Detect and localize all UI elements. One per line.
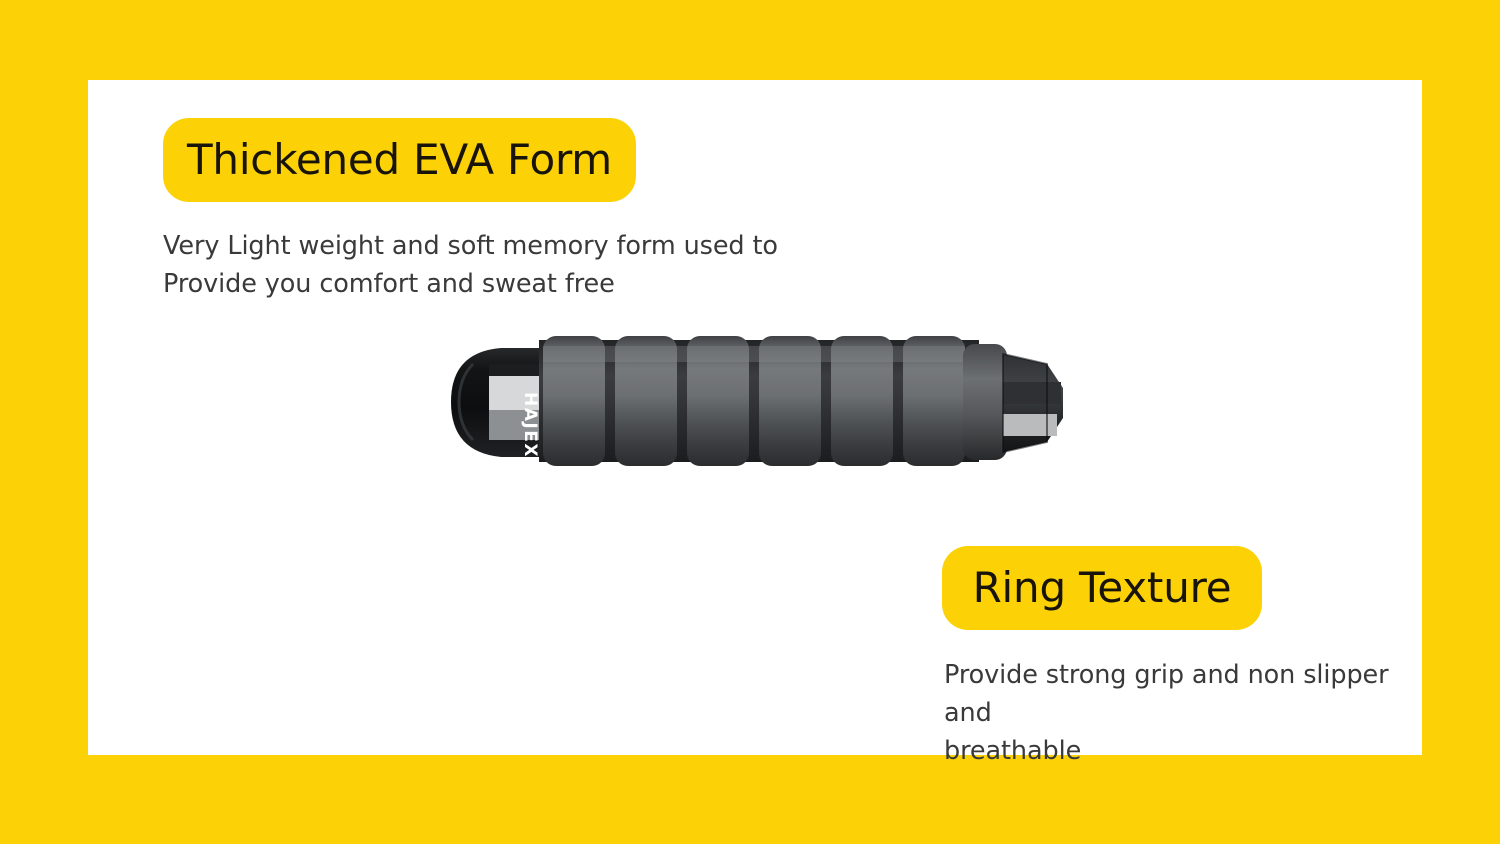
grip-right-collar xyxy=(963,344,1007,460)
description-thickened-eva-form: Very Light weight and soft memory form u… xyxy=(163,227,803,303)
grip-right-end-cap xyxy=(1003,354,1063,452)
grip-ring-segments xyxy=(539,336,979,466)
infographic-canvas: Thickened EVA Form Very Light weight and… xyxy=(0,0,1500,844)
badge-thickened-eva-form: Thickened EVA Form xyxy=(163,118,636,202)
description-ring-texture: Provide strong grip and non slipper and … xyxy=(944,656,1444,770)
content-panel: Thickened EVA Form Very Light weight and… xyxy=(88,80,1422,755)
badge-thickened-eva-form-label: Thickened EVA Form xyxy=(187,139,612,181)
badge-ring-texture: Ring Texture xyxy=(942,546,1262,630)
brand-logo-text: HAJEX xyxy=(520,392,540,458)
badge-ring-texture-label: Ring Texture xyxy=(973,567,1232,609)
product-illustration: HAJEX xyxy=(443,330,1083,475)
product-image-foam-grip: HAJEX xyxy=(443,330,1083,475)
